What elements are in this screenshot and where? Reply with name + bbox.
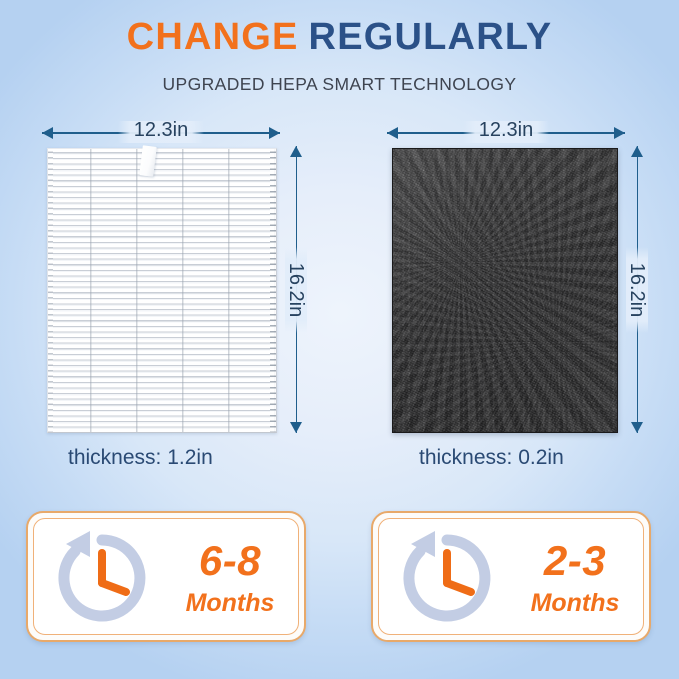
arrowhead-left-icon: [387, 127, 398, 139]
hepa-right-edge: [270, 149, 276, 432]
carbon-interval-number: 2-3: [544, 540, 606, 583]
hepa-thickness-label: thickness: 1.2in: [68, 446, 213, 470]
carbon-surface-sheen: [393, 149, 617, 432]
hepa-left-edge: [48, 149, 53, 432]
hepa-height-dimension: 16.2in: [285, 146, 307, 433]
page-title: CHANGEREGULARLY: [0, 16, 679, 59]
arrowhead-right-icon: [614, 127, 625, 139]
hepa-filter-image: [47, 148, 277, 433]
hepa-width-label: 12.3in: [127, 119, 196, 141]
infographic-canvas: CHANGEREGULARLY UPGRADED HEPA SMART TECH…: [0, 0, 679, 679]
hepa-replacement-badge: 6-8 Months: [26, 511, 306, 642]
carbon-thickness-label: thickness: 0.2in: [419, 446, 564, 470]
arrowhead-up-icon: [631, 146, 643, 157]
arrowhead-down-icon: [290, 422, 302, 433]
title-word-regularly: REGULARLY: [309, 16, 553, 58]
carbon-height-label: 16.2in: [626, 262, 648, 317]
hepa-interval-unit: Months: [186, 589, 275, 618]
arrowhead-left-icon: [42, 127, 53, 139]
hepa-height-label: 16.2in: [285, 262, 307, 317]
arrowhead-right-icon: [269, 127, 280, 139]
carbon-interval-unit: Months: [531, 589, 620, 618]
arrowhead-down-icon: [631, 422, 643, 433]
clock-refresh-icon: [397, 528, 497, 628]
hepa-width-dimension: 12.3in: [42, 121, 280, 143]
clock-refresh-icon: [52, 528, 152, 628]
arrowhead-up-icon: [290, 146, 302, 157]
badge-text-group: 6-8 Months: [166, 527, 294, 631]
hepa-interval-number: 6-8: [199, 540, 261, 583]
carbon-height-dimension: 16.2in: [626, 146, 648, 433]
carbon-width-label: 12.3in: [472, 119, 541, 141]
carbon-width-dimension: 12.3in: [387, 121, 625, 143]
carbon-filter-image: [392, 148, 618, 433]
badge-text-group: 2-3 Months: [511, 527, 639, 631]
page-subtitle: UPGRADED HEPA SMART TECHNOLOGY: [0, 74, 679, 95]
carbon-replacement-badge: 2-3 Months: [371, 511, 651, 642]
title-word-change: CHANGE: [127, 16, 299, 58]
hepa-pull-tab: [139, 145, 157, 176]
